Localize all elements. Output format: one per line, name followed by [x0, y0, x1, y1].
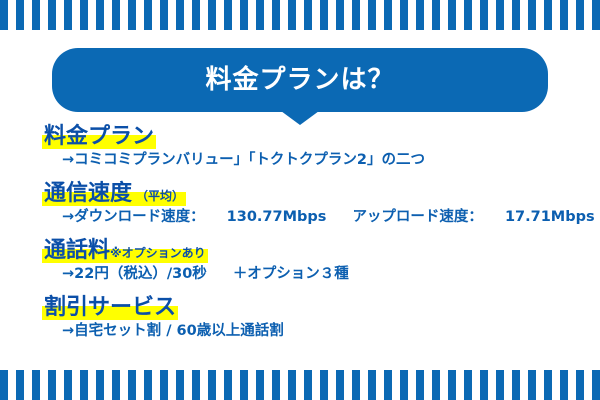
section-plan-heading-row: 料金プラン [0, 126, 600, 148]
section-discount-heading-label: 割引サービス [44, 295, 176, 320]
section-call-heading-note: ※オプションあり [110, 246, 206, 260]
banner-tail-arrow [281, 111, 319, 125]
section-discount-detail-row: →自宅セット割 / 60歳以上通話割 [0, 322, 600, 340]
section-discount-detail-text: →自宅セット割 / 60歳以上通話割 [62, 323, 284, 339]
call-option-text: ＋オプション３種 [233, 266, 349, 282]
header-banner-body: 料金プランは？ [52, 48, 548, 112]
section-plan-detail-row: →コミコミプランバリュー」「トクトクプラン2」の二つ [0, 151, 600, 169]
section-call-heading-row: 通話料※オプションあり [0, 240, 600, 262]
section-speed-heading-note: （平均） [136, 189, 184, 203]
section-plan-detail-text: →コミコミプランバリュー」「トクトクプラン2」の二つ [62, 152, 425, 168]
section-discount-heading: 割引サービス [44, 297, 176, 319]
section-discount: 割引サービス →自宅セット割 / 60歳以上通話割 [0, 297, 600, 340]
section-plan-heading-label: 料金プラン [44, 124, 154, 149]
section-discount-heading-row: 割引サービス [0, 297, 600, 319]
upload-speed-label: アップロード速度： [352, 209, 483, 225]
section-call-charge: 通話料※オプションあり →22円（税込）/30秒＋オプション３種 [0, 240, 600, 283]
section-plan-heading: 料金プラン [44, 126, 154, 148]
section-call-detail-row: →22円（税込）/30秒＋オプション３種 [0, 265, 600, 283]
section-call-heading-label: 通話料 [44, 238, 110, 263]
header-banner: 料金プランは？ [52, 48, 548, 112]
section-plan: 料金プラン →コミコミプランバリュー」「トクトクプラン2」の二つ [0, 126, 600, 169]
section-speed-heading: 通信速度（平均） [44, 183, 184, 205]
page-title: 料金プランは？ [205, 67, 394, 93]
top-stripe-decoration [0, 0, 600, 30]
upload-speed-value: 17.71Mbps [505, 209, 595, 225]
slide-root: 料金プランは？ 料金プラン →コミコミプランバリュー」「トクトクプラン2」の二つ… [0, 0, 600, 400]
download-speed-label: →ダウンロード速度： [62, 209, 205, 225]
section-speed-detail-row: →ダウンロード速度：130.77Mbpsアップロード速度：17.71Mbps [0, 208, 600, 226]
call-rate-text: →22円（税込）/30秒 [62, 266, 207, 282]
section-speed: 通信速度（平均） →ダウンロード速度：130.77Mbpsアップロード速度：17… [0, 183, 600, 226]
content-area: 料金プラン →コミコミプランバリュー」「トクトクプラン2」の二つ 通信速度（平均… [0, 126, 600, 343]
section-call-heading: 通話料※オプションあり [44, 240, 206, 262]
download-speed-value: 130.77Mbps [227, 209, 327, 225]
section-speed-heading-row: 通信速度（平均） [0, 183, 600, 205]
bottom-stripe-decoration [0, 370, 600, 400]
section-speed-heading-label: 通信速度 [44, 181, 132, 206]
